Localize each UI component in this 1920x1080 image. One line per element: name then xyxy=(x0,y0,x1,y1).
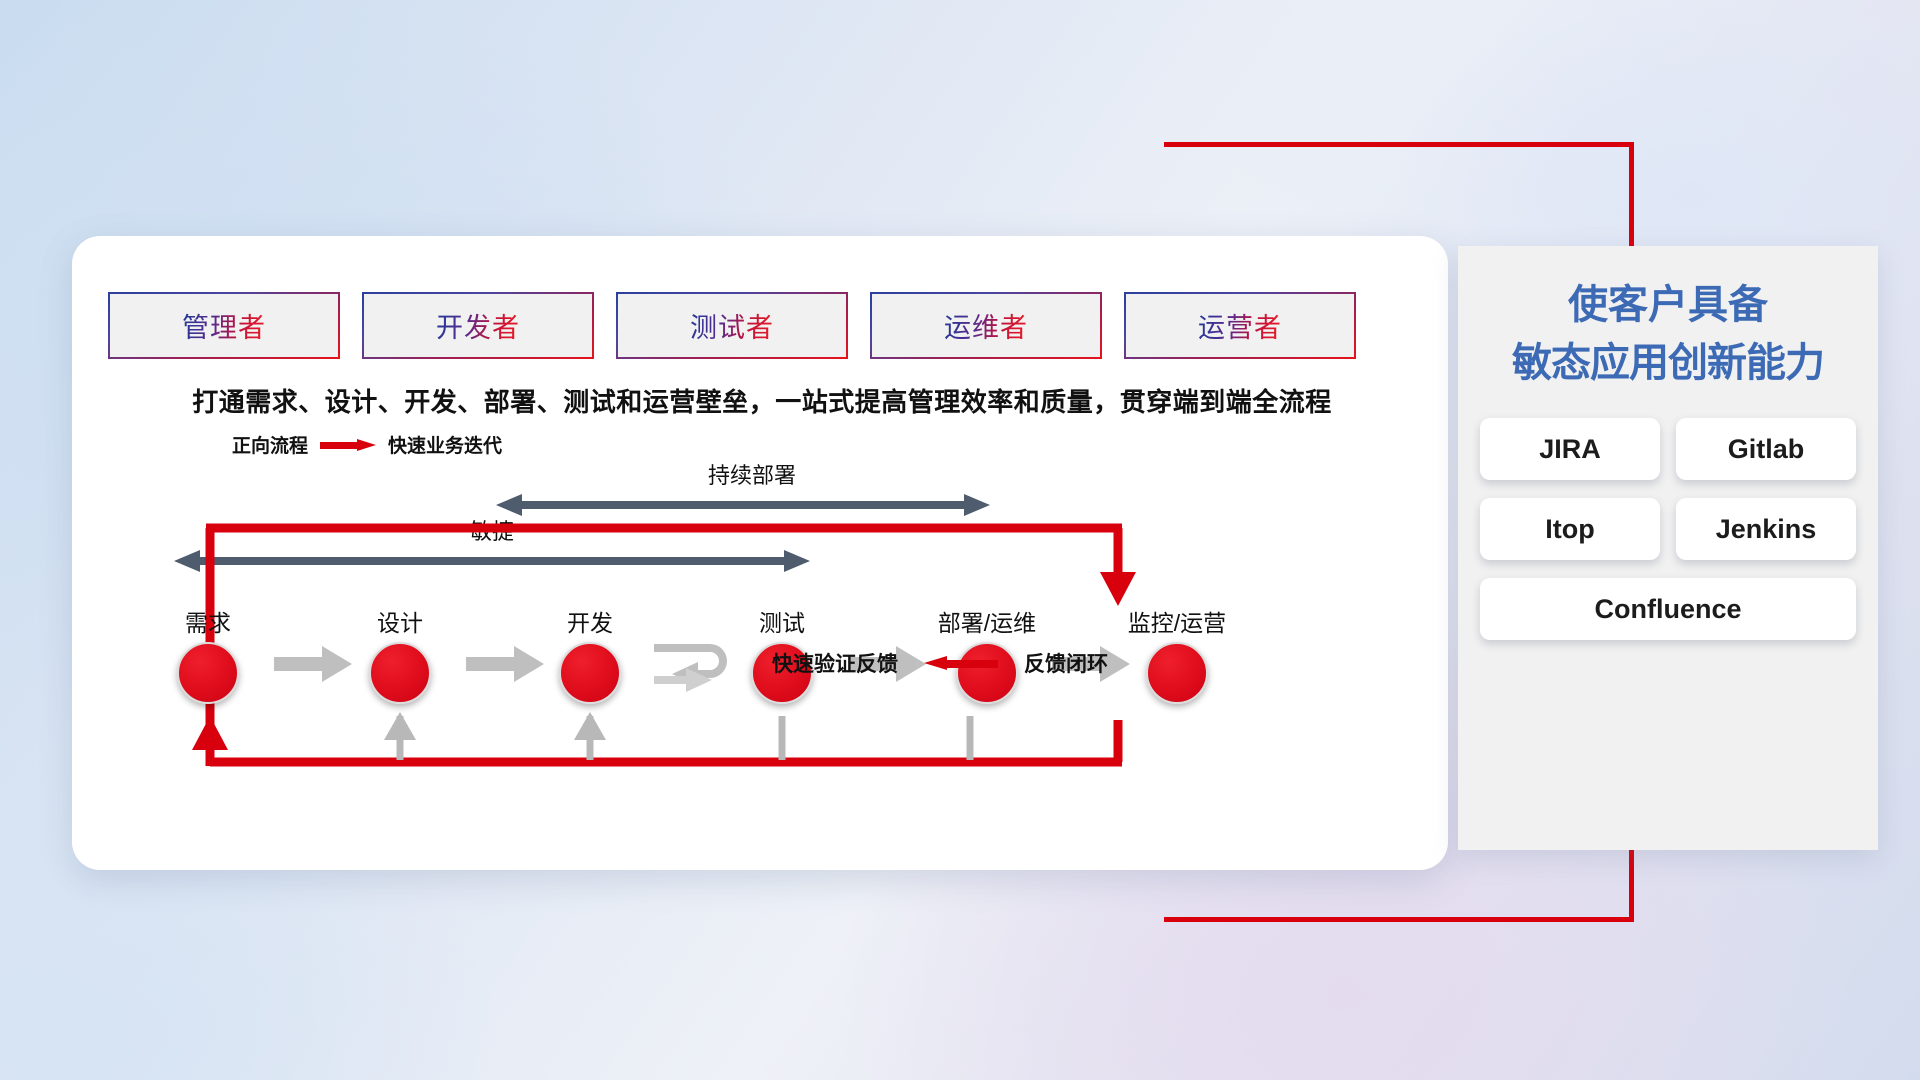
tool-button-jira[interactable]: JIRA xyxy=(1480,418,1660,480)
description-text: 打通需求、设计、开发、部署、测试和运营壁垒，一站式提高管理效率和质量，贯穿端到端… xyxy=(112,382,1412,419)
arrow-left-red-icon xyxy=(924,656,998,670)
role-box-ops[interactable]: 运维者 xyxy=(870,292,1102,359)
stage-requirement[interactable]: 需求 xyxy=(148,604,268,704)
role-label: 测试者 xyxy=(690,306,774,345)
role-box-operations[interactable]: 运营者 xyxy=(1124,292,1356,359)
panel-title: 使客户具备 敏态应用创新能力 xyxy=(1480,276,1856,392)
role-box-manager[interactable]: 管理者 xyxy=(108,292,340,359)
role-label: 管理者 xyxy=(182,306,266,345)
tool-button-itop[interactable]: Itop xyxy=(1480,498,1660,560)
stage-design[interactable]: 设计 xyxy=(340,604,460,704)
role-box-tester[interactable]: 测试者 xyxy=(616,292,848,359)
tool-button-confluence[interactable]: Confluence xyxy=(1480,578,1856,640)
role-label: 运营者 xyxy=(1198,306,1282,345)
stage-development[interactable]: 开发 xyxy=(530,604,650,704)
legend-forward-from-label: 正向流程 xyxy=(232,431,308,458)
stage-node-circle xyxy=(369,642,431,704)
tool-button-grid: JIRA Gitlab Itop Jenkins Confluence xyxy=(1480,418,1856,640)
panel-title-line-1: 使客户具备 xyxy=(1480,276,1856,334)
legend-forward-flow: 正向流程 快速业务迭代 xyxy=(232,431,502,458)
arrow-right-red-icon xyxy=(320,439,376,451)
stage-label: 部署/运维 xyxy=(912,604,1062,638)
main-diagram-card: 管理者 开发者 测试者 运维者 运营者 打通需求、设计、开发、部署、测试和运营壁… xyxy=(72,236,1448,870)
double-arrow-continuous-deployment-icon xyxy=(496,494,990,516)
stage-label: 测试 xyxy=(722,604,842,638)
stage-label: 监控/运营 xyxy=(1102,604,1252,638)
value-proposition-panel: 使客户具备 敏态应用创新能力 JIRA Gitlab Itop Jenkins … xyxy=(1458,246,1878,850)
tool-button-gitlab[interactable]: Gitlab xyxy=(1676,418,1856,480)
stage-label: 开发 xyxy=(530,604,650,638)
panel-title-line-2: 敏态应用创新能力 xyxy=(1480,334,1856,392)
stage-node-circle xyxy=(1146,642,1208,704)
stage-node-circle xyxy=(559,642,621,704)
legend-forward-to-label: 快速业务迭代 xyxy=(388,431,502,458)
band-continuous-deployment-label: 持续部署 xyxy=(502,458,1002,490)
role-label: 开发者 xyxy=(436,306,520,345)
role-label: 运维者 xyxy=(944,306,1028,345)
tool-button-jenkins[interactable]: Jenkins xyxy=(1676,498,1856,560)
legend-feedback-from-label: 快速验证反馈 xyxy=(772,648,898,678)
stage-node-circle xyxy=(177,642,239,704)
stage-label: 需求 xyxy=(148,604,268,638)
stage-label: 设计 xyxy=(340,604,460,638)
stage-monitor-operations[interactable]: 监控/运营 xyxy=(1102,604,1252,704)
role-box-developer[interactable]: 开发者 xyxy=(362,292,594,359)
legend-feedback-to-label: 反馈闭环 xyxy=(1024,648,1108,678)
legend-feedback-loop: 快速验证反馈 反馈闭环 xyxy=(772,648,1108,678)
role-box-row: 管理者 开发者 测试者 运维者 运营者 xyxy=(108,292,1356,359)
